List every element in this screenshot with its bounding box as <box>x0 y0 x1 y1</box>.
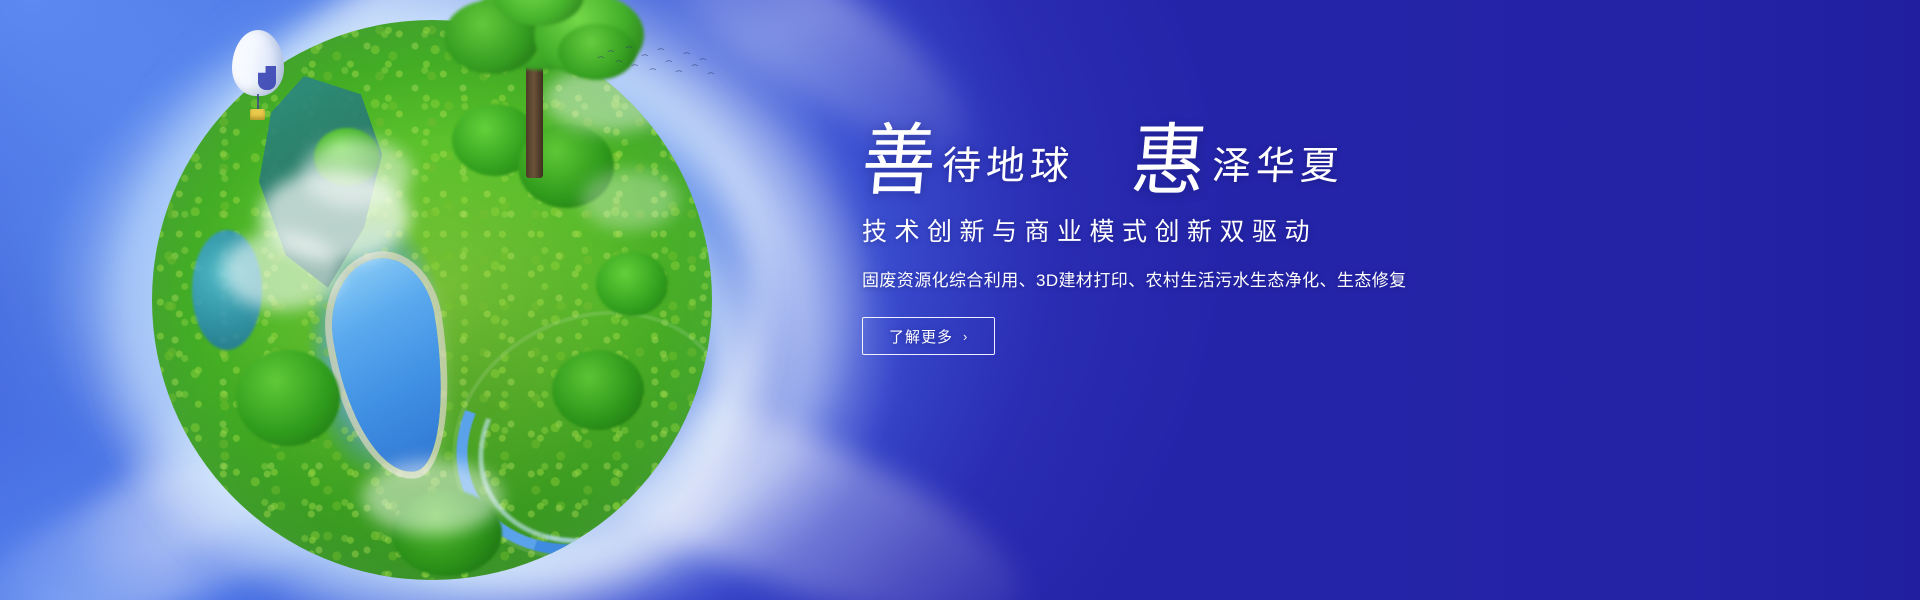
headline-char-2: 惠 <box>1129 126 1209 198</box>
headline-char-1: 善 <box>859 126 939 198</box>
banner-copy: 善 待地球 惠 泽华夏 技术创新与商业模式创新双驱动 固废资源化综合利用、3D建… <box>862 128 1482 355</box>
chevron-right-icon: › <box>963 329 968 344</box>
cloud-over-planet <box>362 460 502 534</box>
balloon-rope <box>257 94 259 110</box>
banner-subtitle: 技术创新与商业模式创新双驱动 <box>862 212 1482 248</box>
tree-canopy <box>552 350 644 430</box>
bird-flock-icon <box>596 46 716 88</box>
tree-canopy <box>236 350 340 446</box>
cloud-over-planet <box>222 232 342 310</box>
learn-more-label: 了解更多 <box>889 326 953 347</box>
learn-more-button[interactable]: 了解更多 › <box>862 317 995 355</box>
hot-air-balloon-icon <box>232 30 290 126</box>
cloud-over-planet <box>302 138 412 208</box>
headline-text-2: 泽华夏 <box>1211 147 1345 186</box>
banner-description: 固废资源化综合利用、3D建材打印、农村生活污水生态净化、生态修复 <box>862 266 1482 291</box>
tree-trunk <box>526 60 543 178</box>
balloon-envelope <box>232 30 284 96</box>
balloon-basket <box>250 109 265 120</box>
headline-text-1: 待地球 <box>941 147 1075 186</box>
page-title: 善 待地球 惠 泽华夏 <box>862 128 1482 196</box>
tree-icon <box>438 0 638 194</box>
tree-canopy <box>596 252 668 316</box>
hero-banner: 善 待地球 惠 泽华夏 技术创新与商业模式创新双驱动 固废资源化综合利用、3D建… <box>0 0 1920 600</box>
